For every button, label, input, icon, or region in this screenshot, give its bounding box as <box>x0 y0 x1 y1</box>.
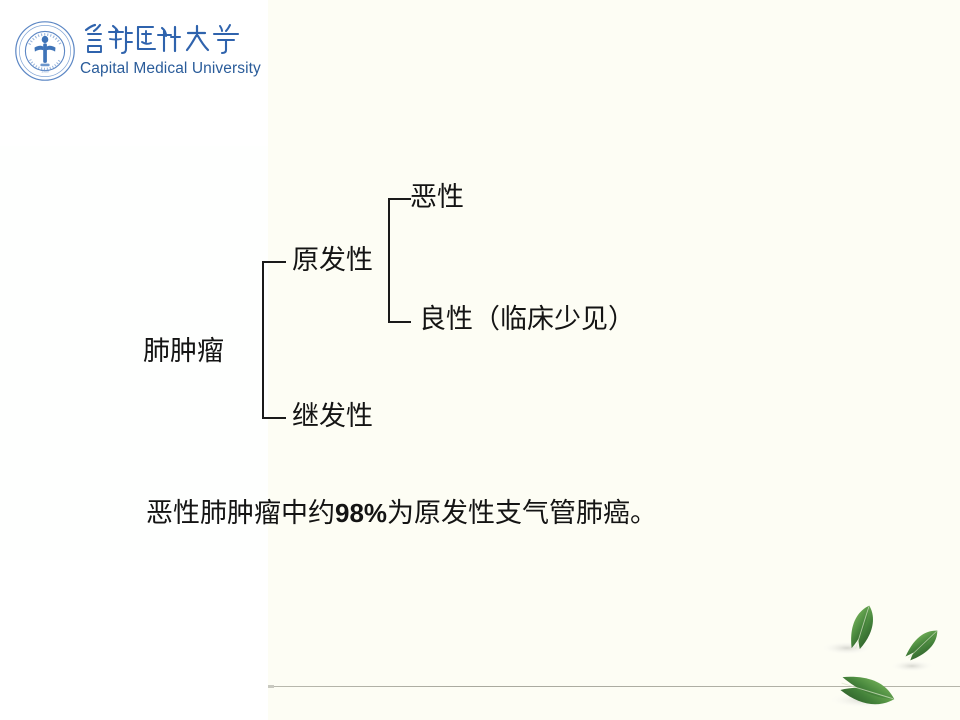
tree-node-root: 肺肿瘤 <box>143 338 224 365</box>
caption-percentage: 98% <box>335 498 387 528</box>
leaf-decoration-icon <box>800 596 960 720</box>
caption-text: 恶性肺肿瘤中约98%为原发性支气管肺癌。 <box>146 498 657 529</box>
tree-node-malignant: 恶性 <box>410 184 464 211</box>
bracket-primary-vertical <box>388 198 390 323</box>
slide-canvas: 1960 <box>0 0 960 720</box>
caption-prefix: 恶性肺肿瘤中约 <box>146 498 335 528</box>
bracket-root-arm-top <box>262 261 286 263</box>
bracket-primary-arm-top <box>388 198 411 200</box>
tree-node-secondary: 继发性 <box>292 403 373 430</box>
bracket-root-arm-bottom <box>262 417 286 419</box>
bracket-primary-arm-bottom <box>388 321 411 323</box>
tree-node-primary: 原发性 <box>292 247 373 274</box>
tree-node-benign: 良性（临床少见） <box>419 306 635 333</box>
caption-suffix: 为原发性支气管肺癌。 <box>387 498 657 528</box>
bracket-root-vertical <box>262 261 264 419</box>
